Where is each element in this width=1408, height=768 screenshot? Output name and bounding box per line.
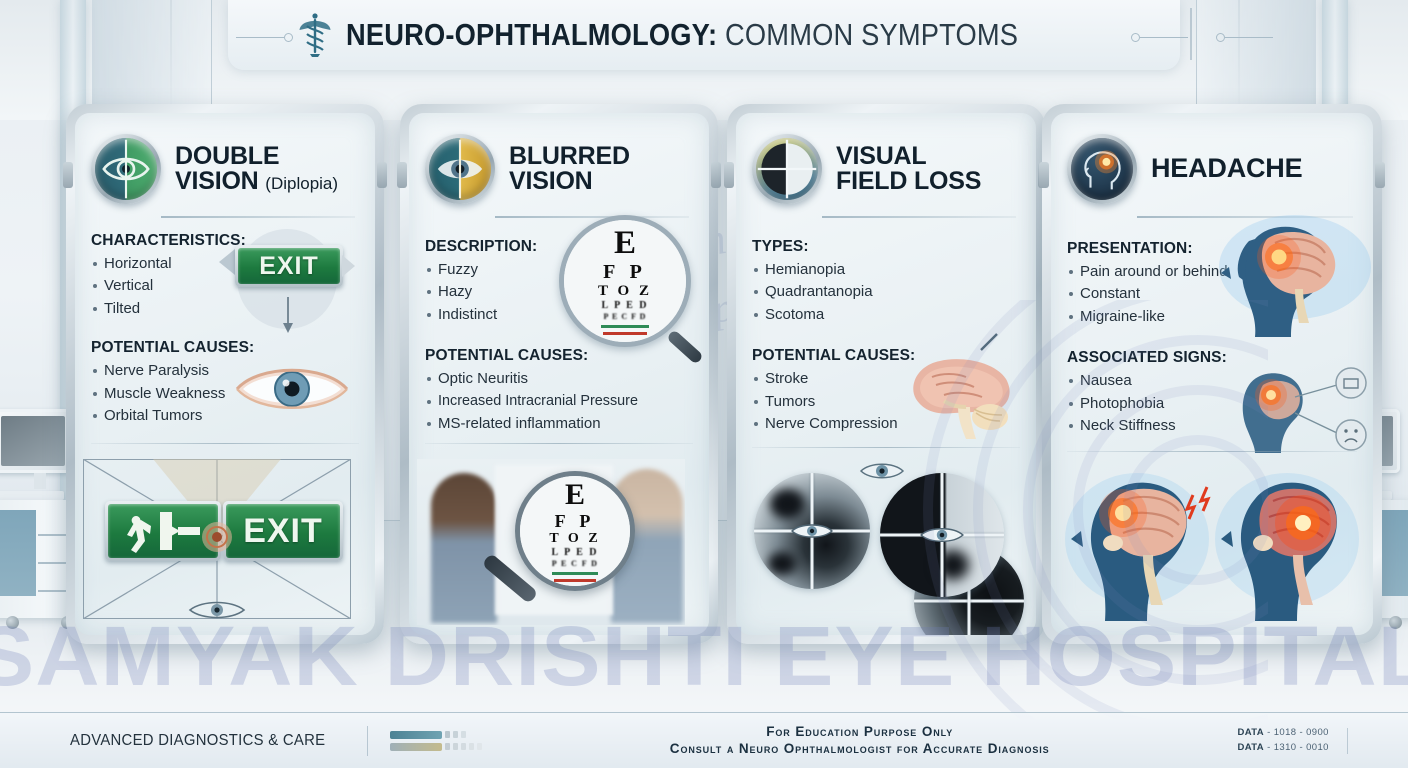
exit-sign-text: EXIT — [223, 501, 343, 561]
panel-header: DOUBLE VISION (Diplopia) — [91, 131, 359, 207]
panel-group: DOUBLE VISION (Diplopia) CHARACTERISTICS… — [0, 0, 1408, 768]
list-item: Quadrantanopia — [752, 281, 1020, 304]
head-brain-pain-icon — [1199, 209, 1373, 339]
disclaimer-line-2: Consult a Neuro Ophthalmologist for Accu… — [482, 741, 1238, 758]
panel-title: VISUAL FIELD LOSS — [836, 144, 981, 195]
chart-row: P E C F D — [552, 560, 599, 568]
chart-row: F P — [603, 262, 647, 282]
chart-row: E — [565, 480, 585, 510]
panel-headache[interactable]: HEADACHE PRESENTATION: Pain around or be… — [1042, 104, 1382, 644]
eye-exam-illustration: E F P T O Z E F P T O Z L P E D P E C F … — [417, 459, 685, 625]
panel-divider — [425, 443, 693, 444]
section-heading: TYPES: — [752, 238, 1020, 256]
footer-indicator-bars — [390, 731, 482, 751]
panel-title-line1: HEADACHE — [1151, 155, 1302, 183]
data-label: DATA — [1237, 742, 1264, 753]
arrow-down-icon — [279, 297, 297, 335]
panel-visual-field-loss[interactable]: VISUAL FIELD LOSS TYPES: Hemianopia Quad… — [727, 104, 1045, 644]
panel-divider — [91, 443, 359, 444]
panel-divider — [752, 447, 1020, 448]
section-types: TYPES: Hemianopia Quadrantanopia Scotoma — [752, 238, 1020, 327]
footer-divider — [367, 726, 368, 756]
exit-label: EXIT — [259, 252, 319, 281]
eye-split-gold-icon — [425, 134, 495, 204]
panel-subtitle: (Diplopia) — [265, 174, 338, 193]
chart-row: E — [614, 227, 636, 260]
snellen-chart-magnified: E F P T O Z L P E D P E C F D — [520, 476, 630, 586]
exit-label-2: EXIT — [243, 512, 323, 551]
eye-icon — [858, 459, 906, 483]
footer-tagline: ADVANCED DIAGNOSTICS & CARE — [70, 732, 325, 750]
chart-row: T O Z — [598, 284, 652, 299]
section-heading: POTENTIAL CAUSES: — [425, 347, 693, 365]
chart-row: L P E D — [601, 301, 648, 311]
footer-divider-right — [1347, 728, 1348, 754]
list-item: Optic Neuritis — [425, 368, 693, 391]
data-value: - 1310 - 0010 — [1267, 742, 1329, 753]
chart-row: T O Z — [549, 532, 600, 546]
indicator-row — [390, 731, 482, 739]
pointer-icon — [978, 331, 1000, 353]
panel-title: DOUBLE VISION (Diplopia) — [175, 144, 338, 195]
panel-header: BLURRED VISION — [425, 131, 693, 207]
eye-split-green-icon — [91, 134, 161, 204]
panel-title-line2: VISION — [509, 169, 630, 195]
indicator-row — [390, 743, 482, 751]
panel-header: VISUAL FIELD LOSS — [752, 131, 1020, 207]
panel-title: HEADACHE — [1151, 155, 1302, 183]
snellen-chart: E F P T O Z L P E D P E C F D — [564, 220, 686, 342]
title-rule — [822, 216, 1016, 218]
data-value: - 1018 - 0900 — [1267, 727, 1329, 738]
chart-row: L P E D — [551, 548, 598, 558]
list-item: MS-related inflammation — [425, 413, 693, 436]
list-item: Increased Intracranial Pressure — [425, 391, 693, 413]
panel-title-line2: FIELD LOSS — [836, 169, 981, 195]
diplopia-illustration-bottom: EXIT — [83, 459, 351, 619]
visual-field-comparison — [746, 465, 1012, 615]
section-list: Optic Neuritis Increased Intracranial Pr… — [425, 368, 693, 435]
list-item: Scotoma — [752, 304, 1020, 327]
panel-title-line2: VISION — [175, 167, 259, 195]
head-pain-icon — [1067, 134, 1137, 204]
panel-header: HEADACHE — [1067, 131, 1357, 207]
eye-illustration — [233, 358, 351, 420]
panel-title: BLURRED VISION — [509, 144, 630, 195]
associated-signs-illustration — [1233, 363, 1373, 455]
footer-bar: ADVANCED DIAGNOSTICS & CARE For Educatio… — [0, 712, 1408, 768]
footer-data-codes: DATA - 1018 - 0900 DATA - 1310 - 0010 — [1237, 726, 1328, 755]
eye-icon — [187, 597, 247, 623]
data-label: DATA — [1237, 727, 1264, 738]
panel-blurred-vision[interactable]: BLURRED VISION DESCRIPTION: Fuzzy Hazy I… — [400, 104, 718, 644]
chart-row: P E C F D — [604, 313, 647, 321]
patient-figure — [431, 473, 497, 623]
diplopia-illustration-top: EXIT — [223, 213, 353, 363]
panel-title-line1: BLURRED — [509, 144, 630, 170]
list-item: Hemianopia — [752, 259, 1020, 282]
section-potential-causes: POTENTIAL CAUSES: Optic Neuritis Increas… — [425, 347, 693, 435]
panel-double-vision[interactable]: DOUBLE VISION (Diplopia) CHARACTERISTICS… — [66, 104, 384, 644]
brain-sagittal-icon — [902, 351, 1020, 441]
visual-field-hemianopia-icon — [880, 473, 1004, 597]
exit-sign-small: EXIT — [235, 245, 343, 287]
panel-divider — [1067, 451, 1357, 452]
footer-disclaimer: For Education Purpose Only Consult a Neu… — [482, 724, 1238, 758]
headache-comparison-illustration — [1061, 465, 1361, 623]
magnifier-chart-top: E F P T O Z L P E D P E C F D — [559, 215, 691, 347]
disclaimer-line-1: For Education Purpose Only — [482, 724, 1238, 741]
panel-title-line1: DOUBLE — [175, 144, 338, 170]
fusion-point-icon — [201, 521, 233, 553]
visual-field-scotoma-icon — [754, 473, 870, 589]
visual-field-quadrant-icon — [752, 134, 822, 204]
section-list: Hemianopia Quadrantanopia Scotoma — [752, 259, 1020, 327]
panel-title-line1: VISUAL — [836, 144, 981, 170]
chart-row: F P — [555, 512, 596, 530]
